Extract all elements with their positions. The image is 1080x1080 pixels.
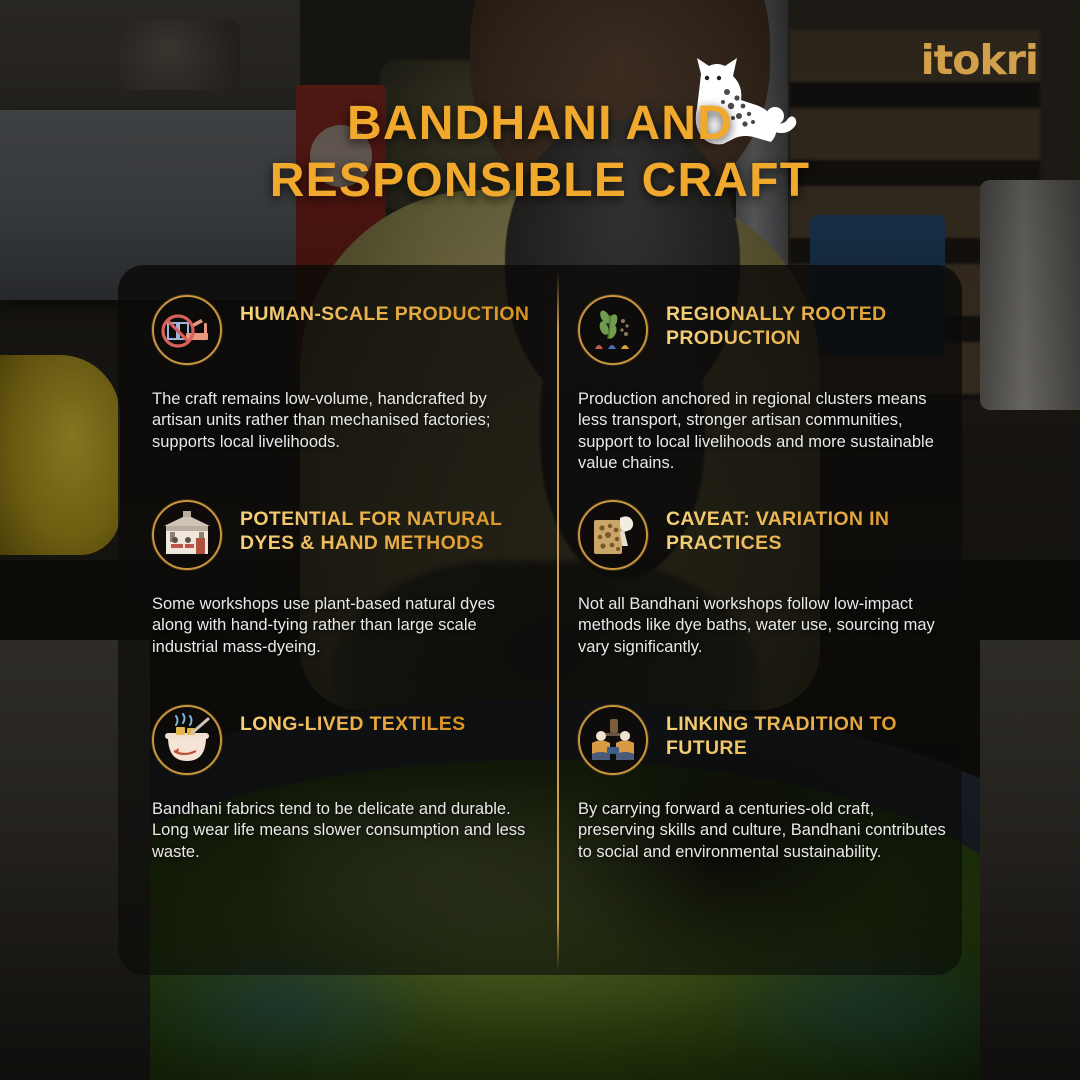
card-regionally-rooted-production: REGIONALLY ROOTED PRODUCTION Production … (558, 265, 962, 470)
infographic-poster: itokri BANDHANI AND RESPONSIBLE CRAFT (0, 0, 1080, 1080)
card-header: CAVEAT: VARIATION IN PRACTICES (578, 500, 952, 570)
title-line-1: BANDHANI AND (347, 97, 733, 150)
card-header: HUMAN-SCALE PRODUCTION (152, 295, 532, 365)
card-human-scale-production: HUMAN-SCALE PRODUCTION The craft remains… (118, 265, 558, 470)
card-header: LONG-LIVED TEXTILES (152, 705, 532, 775)
no-factory-icon (152, 295, 222, 365)
card-title: CAVEAT: VARIATION IN PRACTICES (666, 508, 952, 556)
card-linking-tradition-future: LINKING TRADITION TO FUTURE By carrying … (558, 675, 962, 975)
card-title: LONG-LIVED TEXTILES (240, 713, 466, 737)
card-body: Not all Bandhani workshops follow low-im… (578, 594, 952, 658)
card-title: LINKING TRADITION TO FUTURE (666, 713, 952, 761)
hand-holding-fabric-icon (578, 500, 648, 570)
dye-pot-icon (152, 705, 222, 775)
workshop-building-icon (152, 500, 222, 570)
page-title: BANDHANI AND RESPONSIBLE CRAFT (0, 96, 1080, 209)
card-body: By carrying forward a centuries-old craf… (578, 799, 952, 863)
card-long-lived-textiles: LONG-LIVED TEXTILES Bandhani fabrics ten… (118, 675, 558, 975)
card-title: POTENTIAL FOR NATURAL DYES & HAND METHOD… (240, 508, 532, 556)
card-body: Production anchored in regional clusters… (578, 389, 952, 475)
card-body: The craft remains low-volume, handcrafte… (152, 389, 532, 453)
cards-grid: HUMAN-SCALE PRODUCTION The craft remains… (118, 265, 962, 975)
natural-dye-plants-icon (578, 295, 648, 365)
title-line-2: RESPONSIBLE CRAFT (0, 153, 1080, 210)
two-artisans-icon (578, 705, 648, 775)
itokri-logo[interactable]: itokri (921, 40, 1038, 81)
card-header: REGIONALLY ROOTED PRODUCTION (578, 295, 952, 365)
card-title: REGIONALLY ROOTED PRODUCTION (666, 303, 952, 351)
card-body: Bandhani fabrics tend to be delicate and… (152, 799, 532, 863)
card-title: HUMAN-SCALE PRODUCTION (240, 303, 529, 327)
card-header: LINKING TRADITION TO FUTURE (578, 705, 952, 775)
card-header: POTENTIAL FOR NATURAL DYES & HAND METHOD… (152, 500, 532, 570)
card-body: Some workshops use plant-based natural d… (152, 594, 532, 658)
card-natural-dyes-hand-methods: POTENTIAL FOR NATURAL DYES & HAND METHOD… (118, 470, 558, 675)
card-caveat-variation: CAVEAT: VARIATION IN PRACTICES Not all B… (558, 470, 962, 675)
